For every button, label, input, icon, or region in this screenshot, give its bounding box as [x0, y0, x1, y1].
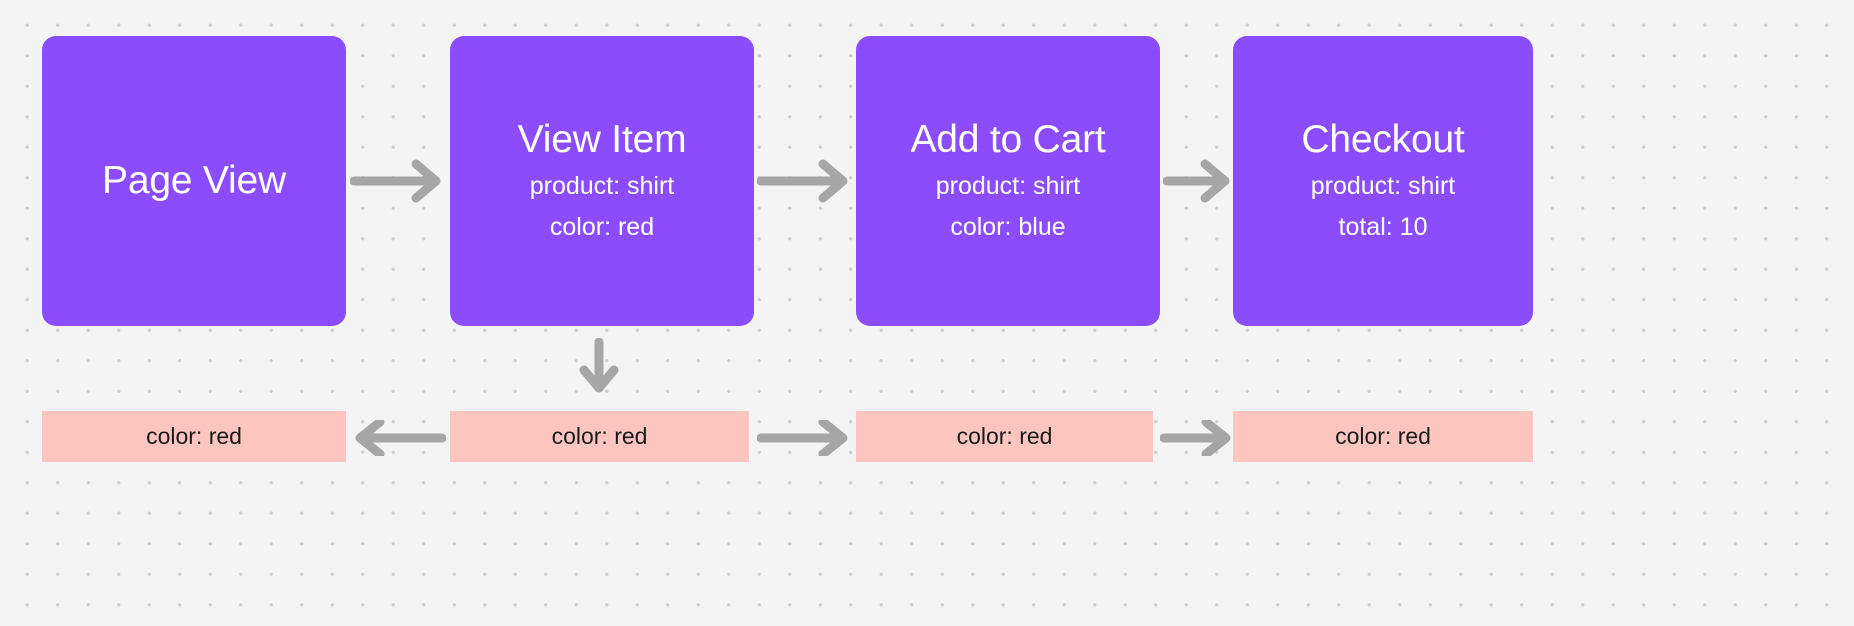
- property-node-1[interactable]: color: red: [42, 411, 346, 462]
- event-node-page-view[interactable]: Page View: [42, 36, 346, 326]
- property-node-label: color: red: [552, 423, 648, 450]
- arrow-right-icon: [757, 420, 853, 456]
- event-node-add-to-cart[interactable]: Add to Cart product: shirt color: blue: [856, 36, 1160, 326]
- event-node-property: color: red: [550, 207, 654, 248]
- event-node-title: View Item: [518, 114, 687, 166]
- arrow-left-icon: [350, 420, 446, 456]
- event-node-view-item[interactable]: View Item product: shirt color: red: [450, 36, 754, 326]
- property-node-label: color: red: [957, 423, 1053, 450]
- arrow-right-icon: [1163, 158, 1235, 204]
- property-node-4[interactable]: color: red: [1233, 411, 1533, 462]
- property-node-2[interactable]: color: red: [450, 411, 749, 462]
- arrow-right-icon: [757, 158, 853, 204]
- event-node-property: product: shirt: [530, 166, 675, 207]
- event-node-property: product: shirt: [1311, 166, 1456, 207]
- arrow-right-icon: [350, 158, 446, 204]
- property-node-label: color: red: [1335, 423, 1431, 450]
- event-node-title: Add to Cart: [910, 114, 1105, 166]
- event-node-title: Checkout: [1301, 114, 1464, 166]
- property-node-label: color: red: [146, 423, 242, 450]
- event-node-property: color: blue: [950, 207, 1065, 248]
- event-node-checkout[interactable]: Checkout product: shirt total: 10: [1233, 36, 1533, 326]
- event-node-title: Page View: [102, 155, 286, 207]
- diagram-canvas[interactable]: Page View View Item product: shirt color…: [0, 0, 1854, 626]
- property-node-3[interactable]: color: red: [856, 411, 1153, 462]
- arrow-down-icon: [575, 338, 623, 398]
- event-node-property: product: shirt: [936, 166, 1081, 207]
- arrow-right-icon: [1160, 420, 1236, 456]
- event-node-property: total: 10: [1339, 207, 1428, 248]
